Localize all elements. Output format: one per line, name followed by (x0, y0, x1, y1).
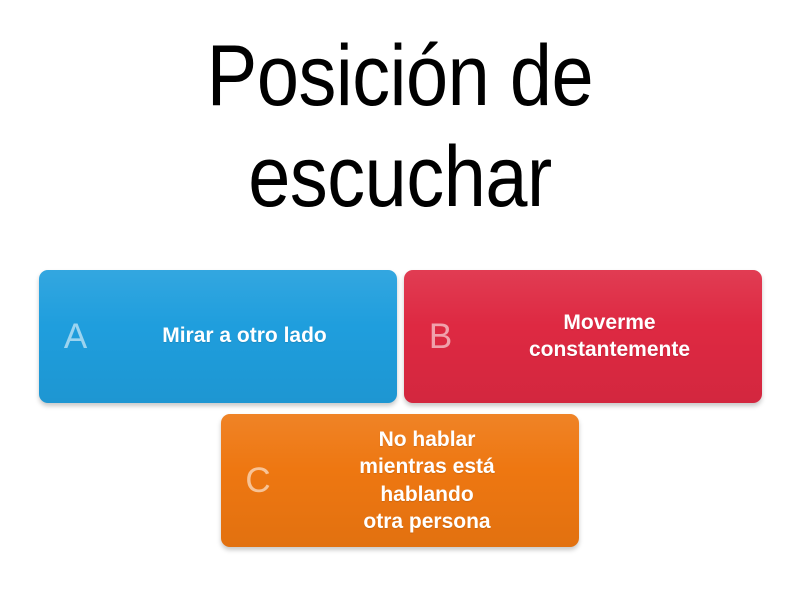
answer-option-a[interactable]: A Mirar a otro lado (39, 270, 397, 403)
answer-letter-b: B (404, 319, 478, 354)
quiz-stage: Posición de escuchar A Mirar a otro lado… (0, 0, 800, 600)
answer-row-2: C No hablar mientras está hablando otra … (0, 414, 800, 547)
answer-text-b: Moverme constantemente (478, 310, 762, 364)
answer-letter-c: C (221, 463, 295, 498)
question-title: Posición de escuchar (83, 26, 717, 229)
answer-text-c: No hablar mientras está hablando otra pe… (295, 426, 579, 535)
answer-options-container: A Mirar a otro lado B Moverme constantem… (0, 270, 800, 547)
answer-letter-a: A (39, 319, 113, 354)
answer-option-c[interactable]: C No hablar mientras está hablando otra … (221, 414, 579, 547)
answer-option-b[interactable]: B Moverme constantemente (404, 270, 762, 403)
answer-text-a: Mirar a otro lado (113, 323, 397, 350)
answer-row-1: A Mirar a otro lado B Moverme constantem… (0, 270, 800, 403)
